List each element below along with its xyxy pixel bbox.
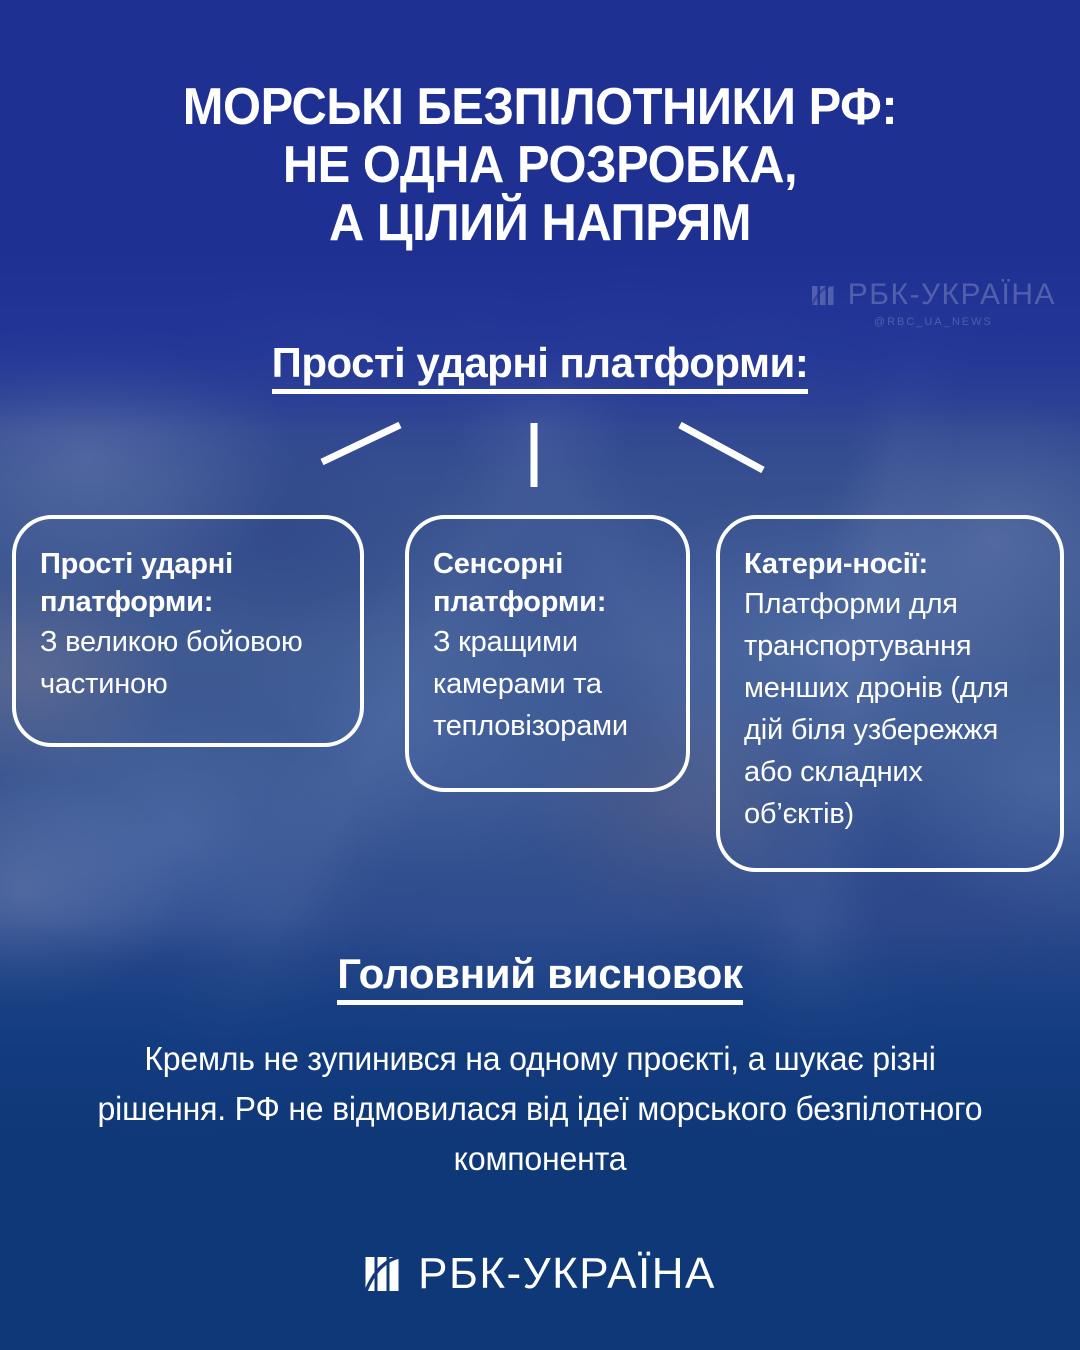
watermark: РБК-УКРАЇНА @RBC_UA_NEWS [811,278,1056,328]
card-simple-strike-platforms: Прості ударні платформи: З великою бойов… [12,515,364,747]
card-body: З великою бойовою частиною [40,621,336,705]
card-sensor-platforms: Сенсорні платформи: З кращими камерами т… [405,515,690,792]
section-heading: Прості ударні платформи: [0,338,1080,388]
card-carrier-boats: Катери-носії: Платформи для транспортува… [716,515,1064,872]
footer-logo: РБК-УКРАЇНА [0,1250,1080,1298]
infographic-poster: МОРСЬКІ БЕЗПІЛОТНИКИ РФ: НЕ ОДНА РОЗРОБК… [0,0,1080,1350]
conclusion-body: Кремль не зупинився на одному проєкті, а… [92,1034,988,1184]
page-title-line-3: А ЦІЛИЙ НАПРЯМ [32,194,1047,252]
rbc-logo-mark-icon [811,281,839,309]
section-heading-text: Прості ударні платформи: [272,339,809,394]
page-title: МОРСЬКІ БЕЗПІЛОТНИКИ РФ: НЕ ОДНА РОЗРОБК… [32,78,1047,252]
watermark-brand: РБК-УКРАЇНА [848,278,1056,312]
card-body: З кращими камерами та тепловізорами [433,621,662,747]
connector-line-right [680,425,763,470]
conclusion-heading: Головний висновок [0,948,1080,1000]
footer-brand: РБК-УКРАЇНА [418,1250,716,1298]
page-title-line-1: МОРСЬКІ БЕЗПІЛОТНИКИ РФ: [32,78,1047,136]
card-title: Катери-носії: [744,545,1036,583]
card-title: Прості ударні платформи: [40,545,336,621]
card-title: Сенсорні платформи: [433,545,662,621]
watermark-handle: @RBC_UA_NEWS [811,316,1056,328]
conclusion-heading-text: Головний висновок [337,950,742,1005]
page-title-line-2: НЕ ОДНА РОЗРОБКА, [32,136,1047,194]
connector-line-left [322,425,400,462]
rbc-logo-mark-icon [364,1253,404,1295]
card-body: Платформи для транспортування менших дро… [744,583,1036,835]
